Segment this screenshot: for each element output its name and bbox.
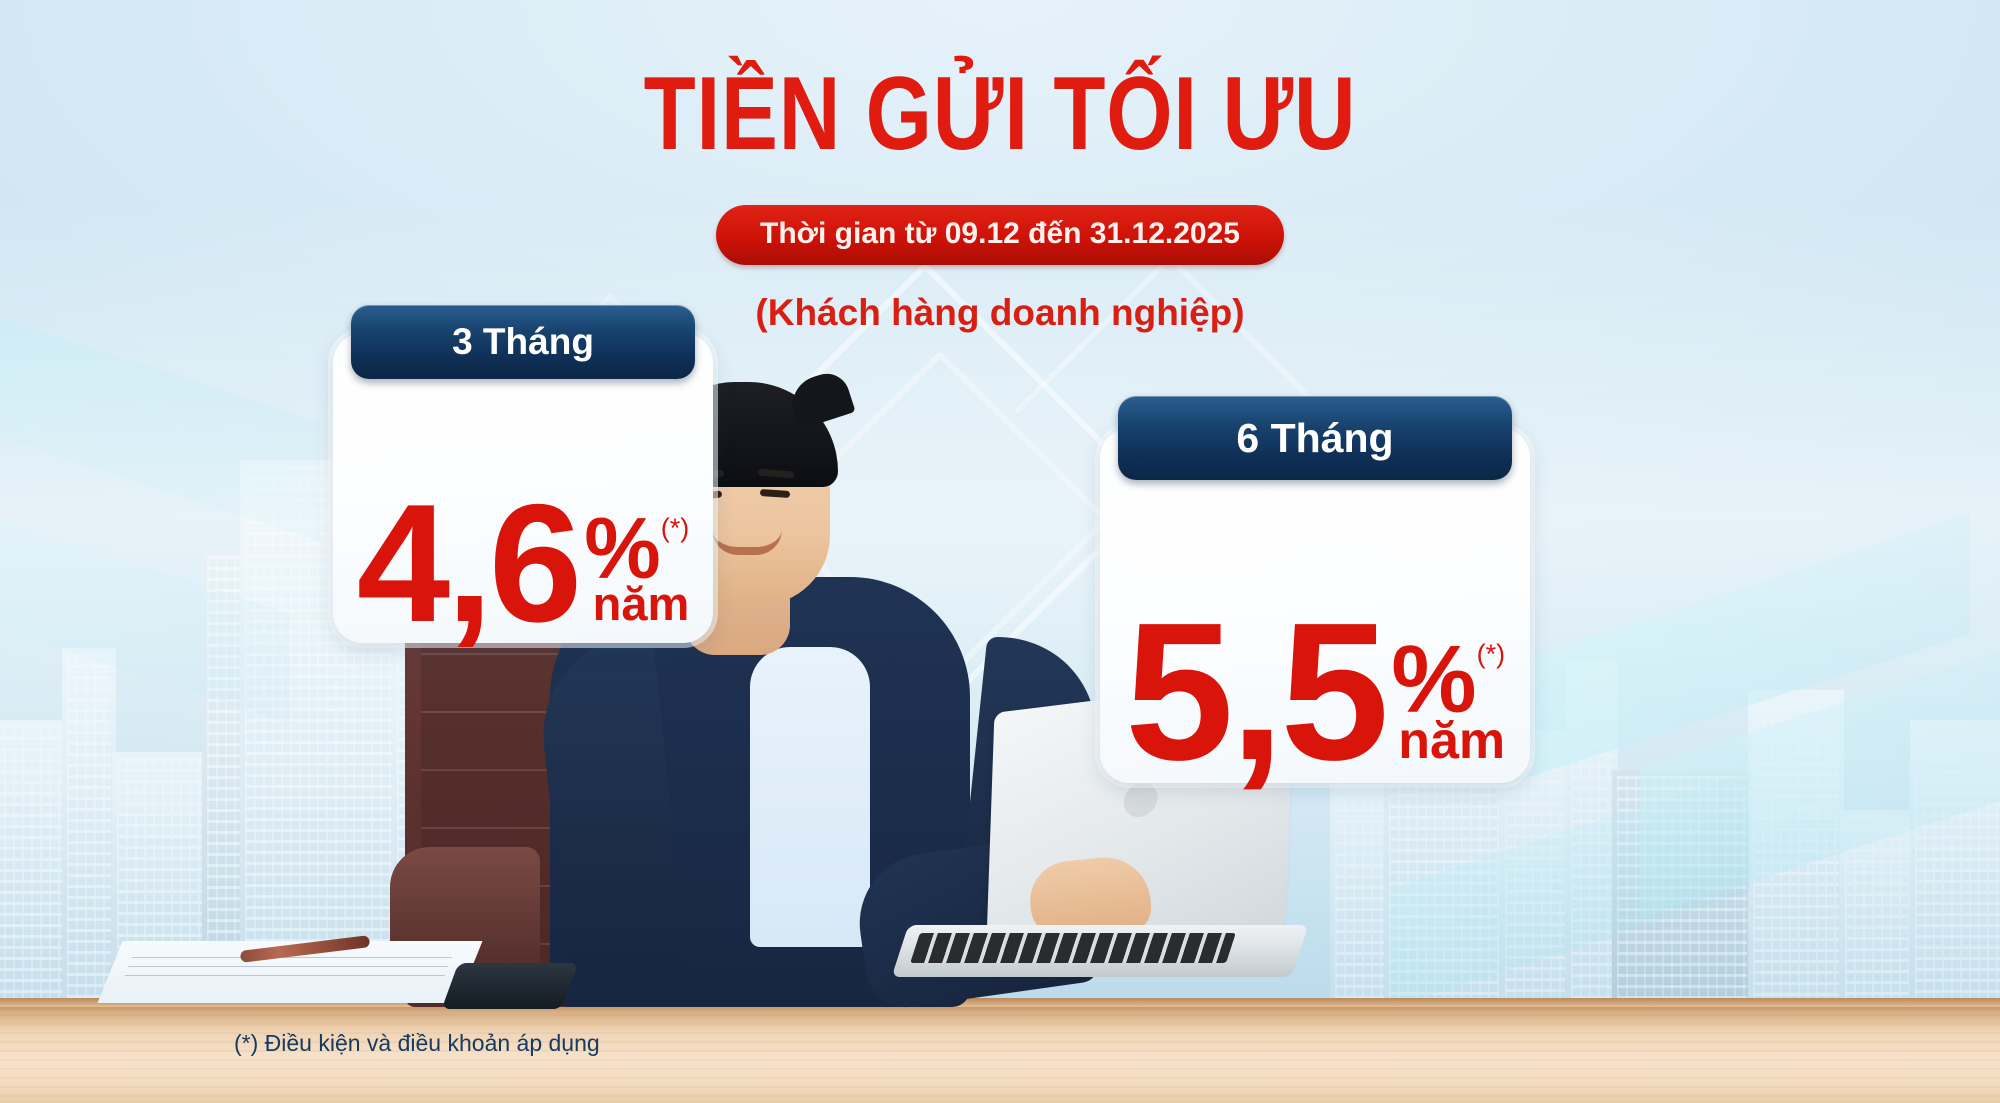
rate-display-3-months: 4,6 % (*) năm — [333, 495, 713, 633]
rate-suffix-3-months: % (*) năm — [584, 513, 689, 633]
rate-card-6-months: 6 Tháng 5,5 % (*) năm — [1100, 428, 1530, 783]
period-label-6-months: năm — [1398, 715, 1505, 767]
rate-card-3-months: 3 Tháng 4,6 % (*) năm — [333, 333, 713, 643]
glass-shard — [1390, 772, 1750, 1009]
glass-shard — [1500, 514, 1970, 787]
asterisk-note-6-months: (*) — [1477, 641, 1506, 668]
keyboard-keys — [910, 933, 1236, 963]
laptop-keyboard — [892, 925, 1309, 977]
promo-banner: TIỀN GỬI TỐI ƯU Thời gian từ 09.12 đến 3… — [0, 0, 2000, 1103]
rate-suffix-6-months: % (*) năm — [1391, 639, 1505, 773]
asterisk-note-3-months: (*) — [661, 515, 690, 542]
percent-line: % (*) — [1391, 639, 1505, 721]
smartphone — [442, 963, 579, 1009]
percent-line: % (*) — [584, 513, 689, 586]
percent-symbol-3-months: % — [584, 513, 660, 586]
percent-symbol-6-months: % — [1391, 639, 1476, 721]
rate-value-6-months: 5,5 — [1125, 612, 1385, 773]
glass-shard — [0, 506, 290, 723]
dress-shirt — [750, 647, 870, 947]
page-title: TIỀN GỬI TỐI ƯU — [180, 62, 1820, 166]
term-badge-6-months: 6 Tháng — [1118, 396, 1512, 480]
glass-shard — [1640, 632, 2000, 918]
glass-shard — [0, 298, 320, 541]
rate-value-3-months: 4,6 — [357, 495, 579, 633]
rate-display-6-months: 5,5 % (*) năm — [1100, 612, 1530, 773]
promo-period-badge: Thời gian từ 09.12 đến 31.12.2025 — [716, 205, 1284, 265]
terms-footnote: (*) Điều kiện và điều khoản áp dụng — [234, 1030, 600, 1057]
term-badge-3-months: 3 Tháng — [351, 305, 695, 379]
period-label-3-months: năm — [593, 580, 690, 627]
audience-subtitle: (Khách hàng doanh nghiệp) — [0, 292, 2000, 334]
